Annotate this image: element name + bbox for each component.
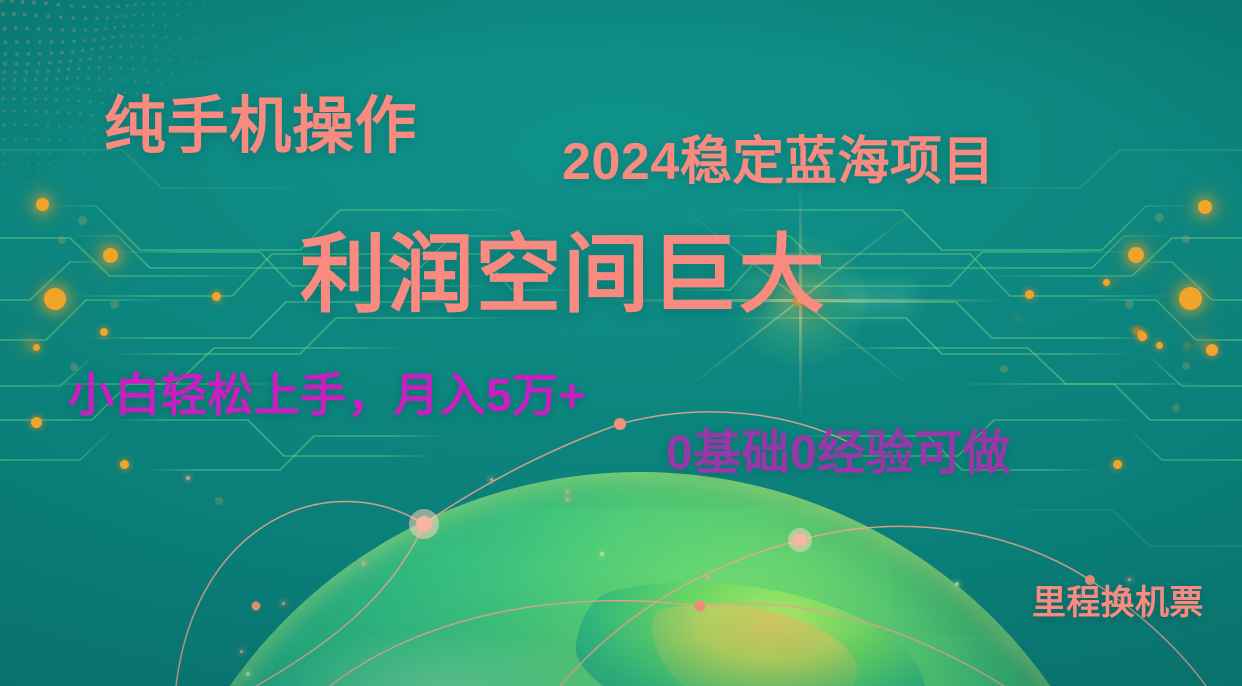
corner-tag-text: 里程换机票 xyxy=(1032,586,1204,620)
eyebrow-left-text: 纯手机操作 xyxy=(104,96,417,158)
promo-banner: 纯手机操作 2024稳定蓝海项目 利润空间巨大 小白轻松上手，月入5万+ 0基础… xyxy=(0,0,1242,686)
headline-text: 利润空间巨大 xyxy=(300,232,826,318)
subheading-right-text: 0基础0经验可做 xyxy=(666,430,1011,478)
eyebrow-right-text: 2024稳定蓝海项目 xyxy=(562,136,995,188)
subheading-left-text: 小白轻松上手，月入5万+ xyxy=(68,372,586,418)
